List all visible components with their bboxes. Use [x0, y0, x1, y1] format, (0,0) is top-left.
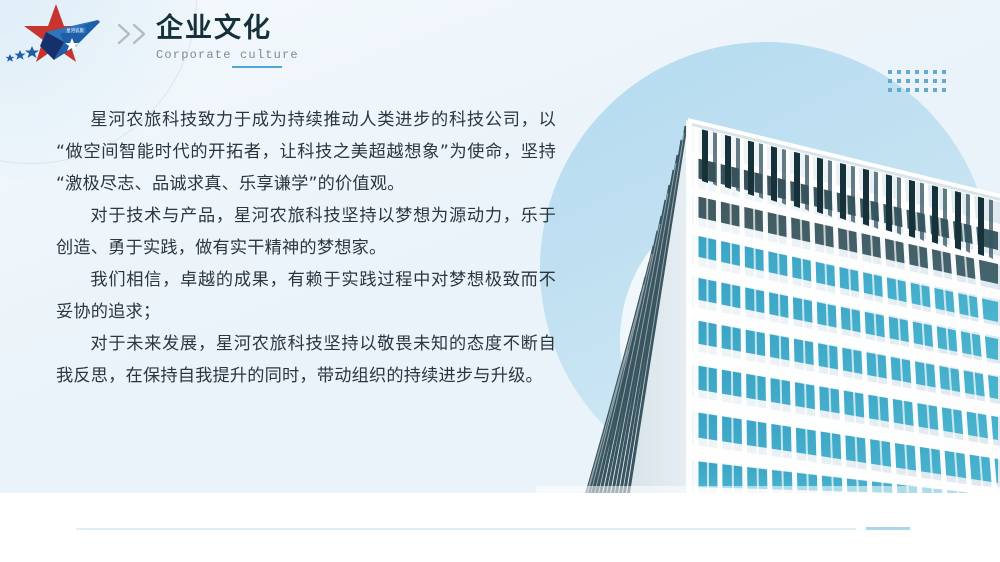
grid-dot [933, 88, 937, 92]
body-copy: 星河农旅科技致力于成为持续推动人类进步的科技公司，以“做空间智能时代的开拓者，让… [56, 104, 556, 392]
chevron-right-double-icon [115, 22, 153, 46]
page-title: 企业文化 [156, 12, 299, 46]
grid-dot [942, 88, 946, 92]
grid-dot [924, 70, 928, 74]
footer-divider-line [76, 528, 856, 530]
paragraph: 我们相信，卓越的成果，有赖于实践过程中对梦想极致而不妥协的追求； [56, 264, 556, 328]
paragraph: 对于未来发展，星河农旅科技坚持以敬畏未知的态度不断自我反思，在保持自我提升的同时… [56, 328, 556, 392]
grid-dot [933, 70, 937, 74]
grid-dot [906, 88, 910, 92]
grid-dot [888, 70, 892, 74]
grid-dot [897, 88, 901, 92]
grid-dot [933, 79, 937, 83]
grid-dot [924, 79, 928, 83]
title-underline-accent [232, 66, 282, 68]
dot-grid-decoration [888, 70, 950, 96]
grid-dot [897, 70, 901, 74]
grid-dot [924, 88, 928, 92]
page-title-block: 企业文化 Corporate culture [156, 12, 299, 68]
slide-root: 星河农旅 企业文化 Corporate culture 星河农旅科技致力于成为持… [0, 0, 1000, 562]
company-logo: 星河农旅 [2, 2, 110, 64]
grid-dot [915, 88, 919, 92]
page-subtitle: Corporate culture [156, 47, 299, 68]
grid-dot [906, 70, 910, 74]
grid-dot [942, 79, 946, 83]
footer-accent-segment [866, 527, 910, 530]
grid-dot [942, 70, 946, 74]
paragraph: 对于技术与产品，星河农旅科技坚持以梦想为源动力，乐于创造、勇于实践，做有实干精神… [56, 200, 556, 264]
grid-dot [915, 70, 919, 74]
page-subtitle-text: Corporate culture [156, 48, 299, 62]
grid-dot [915, 79, 919, 83]
logo-mark-text: 星河农旅 [66, 27, 84, 34]
grid-dot [897, 79, 901, 83]
grid-dot [906, 79, 910, 83]
paragraph: 星河农旅科技致力于成为持续推动人类进步的科技公司，以“做空间智能时代的开拓者，让… [56, 104, 556, 200]
grid-dot [888, 79, 892, 83]
slide-header: 星河农旅 企业文化 Corporate culture [0, 0, 560, 80]
grid-dot [888, 88, 892, 92]
